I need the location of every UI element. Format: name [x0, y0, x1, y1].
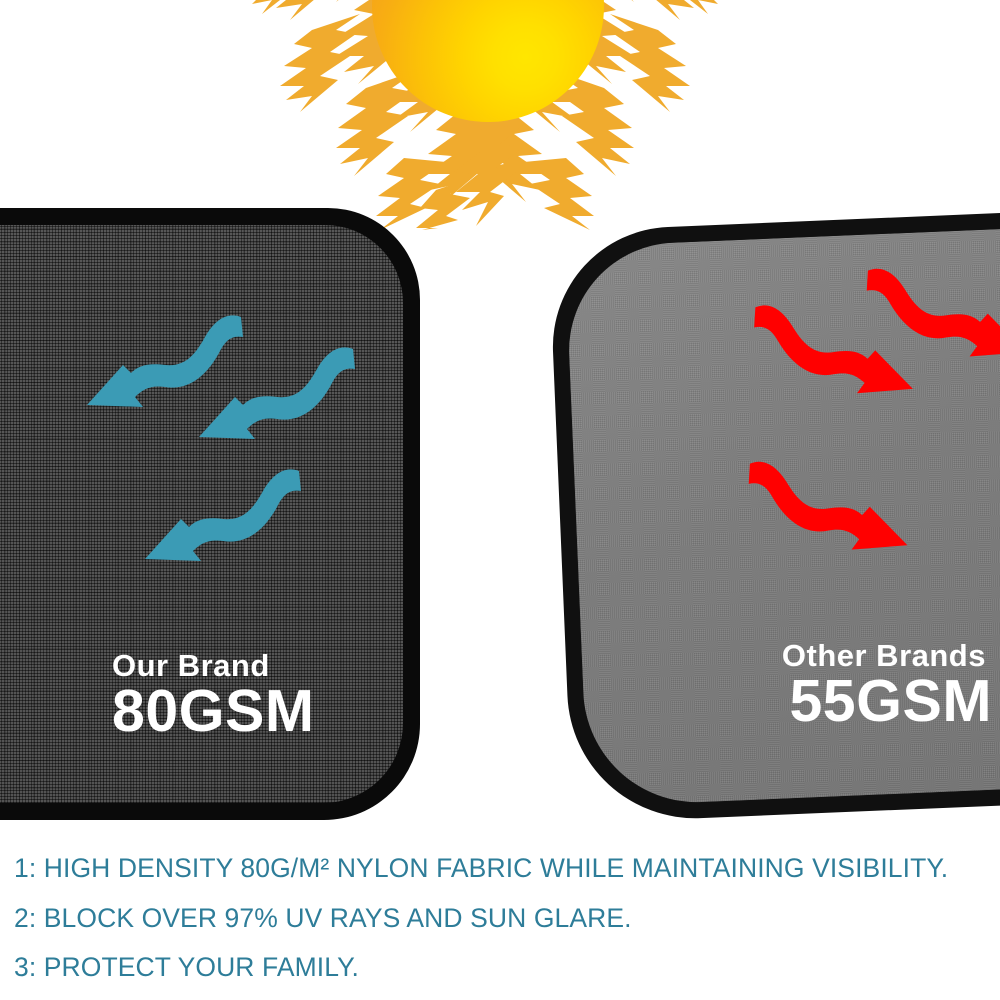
other-brands-label-block: Other Brands 55GSM	[782, 640, 992, 733]
penetrating-ray-arrow-icon-1	[751, 292, 935, 409]
our-brand-name: Our Brand	[112, 650, 315, 681]
feature-line-1: 1: HIGH DENSITY 80G/M² NYLON FABRIC WHIL…	[14, 855, 989, 882]
feature-line-3: 3: PROTECT YOUR FAMILY.	[14, 954, 989, 981]
our-brand-gsm-value: 80GSM	[112, 681, 315, 743]
other-brands-name: Other Brands	[782, 640, 992, 671]
penetrating-ray-arrow-icon-2	[864, 255, 1000, 372]
product-comparison-image: Our Brand 80GSM Other Brands 55GSM 1: HI…	[0, 0, 1000, 1000]
blocked-ray-arrow-icon-1	[65, 309, 245, 419]
other-brands-gsm-value: 55GSM	[782, 671, 992, 733]
penetrating-ray-arrow-icon-3	[746, 448, 930, 565]
sun-graphic	[250, 0, 720, 230]
blocked-ray-arrow-icon-2	[177, 341, 357, 451]
sun-disc-icon	[372, 0, 604, 122]
feature-line-2: 2: BLOCK OVER 97% UV RAYS AND SUN GLARE.	[14, 905, 989, 932]
feature-list: 1: HIGH DENSITY 80G/M² NYLON FABRIC WHIL…	[14, 855, 989, 1000]
sun-rays-icon	[250, 0, 720, 230]
blocked-ray-arrow-icon-3	[123, 463, 303, 573]
our-brand-label-block: Our Brand 80GSM	[112, 650, 315, 743]
